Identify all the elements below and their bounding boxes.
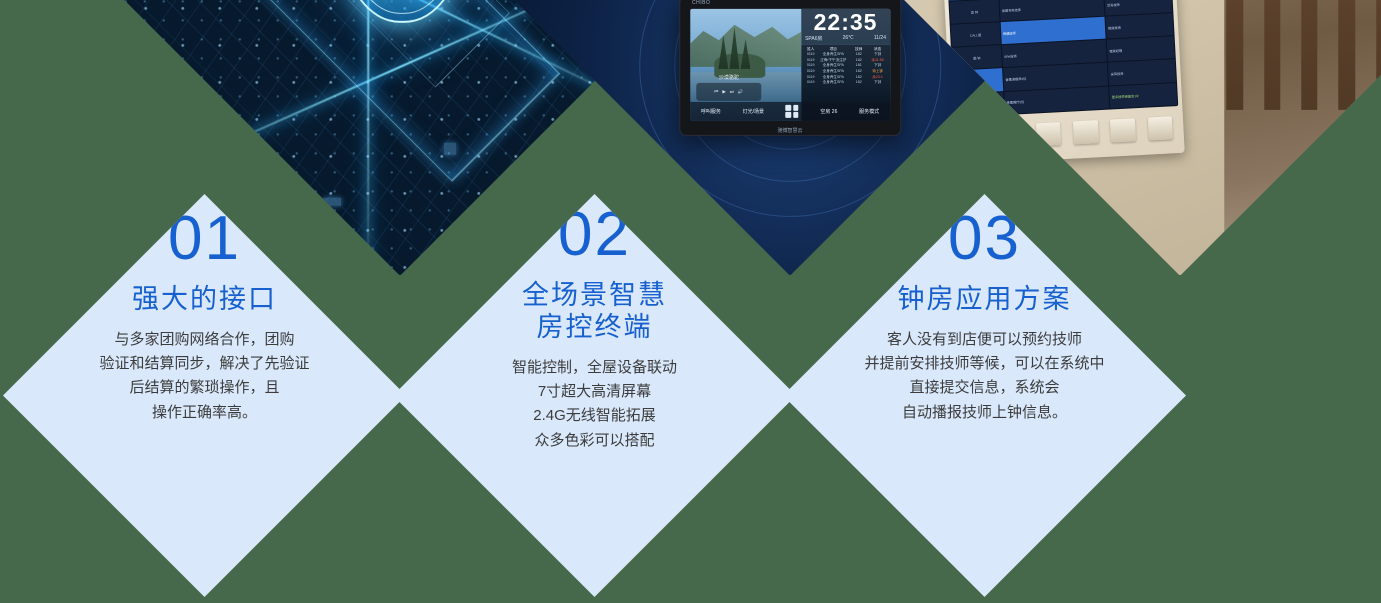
panel-key[interactable] xyxy=(1036,123,1062,147)
cell: 182 xyxy=(849,80,868,86)
tablet-brand-label: CHIBO xyxy=(692,0,710,6)
feature-card-2[interactable]: 02 全场景智慧 房控终端 智能控制，全屋设备联动 7寸超大高清屏幕 2.4G无… xyxy=(393,194,796,597)
volume-icon[interactable]: 🔊 xyxy=(738,89,744,95)
panel-left-item[interactable]: CALL服 xyxy=(951,23,1001,48)
panel-key[interactable] xyxy=(962,127,988,151)
cell: 全身养生SPA xyxy=(817,80,849,86)
room-control-tablet[interactable]: CHIBO 沙漠骆驼 ⏮ ▶ xyxy=(679,0,901,136)
feature-card-3[interactable]: 03 钟房应用方案 客人没有到店便可以预约技师 并提前安排技师等候，可以在系统中… xyxy=(783,194,1186,597)
panel-right-item[interactable]: 采耳技师 xyxy=(1108,60,1176,86)
room-label: SPA6房 xyxy=(805,35,822,42)
desc-line: 客人没有到店便可以预约技师 xyxy=(783,328,1186,352)
panel-right-item[interactable]: 楼层技师 xyxy=(1106,14,1174,40)
card-description: 与多家团购网络合作，团购 验证和结算同步，解决了先验证 后结算的繁琐操作，且 操… xyxy=(3,328,406,425)
cell-status: 下钟 xyxy=(868,80,887,86)
temperature-label: 26℃ xyxy=(843,35,854,42)
tablet-footer-brand: 驰博智慧云 xyxy=(680,127,900,134)
clock-time: 22:35 xyxy=(805,12,886,34)
desc-line: 自动播报技师上钟信息。 xyxy=(783,401,1186,425)
play-icon[interactable]: ▶ xyxy=(722,89,725,95)
desc-line: 操作正确率高。 xyxy=(3,401,406,425)
card-title: 钟房应用方案 xyxy=(783,284,1186,316)
panel-key[interactable] xyxy=(999,125,1025,149)
date-label: 11/24 xyxy=(874,35,886,42)
tablet-bottom-bar[interactable]: 呼叫服务 灯光/场景 空房 26 服务模式 xyxy=(690,102,890,121)
card-title-line: 房控终端 xyxy=(393,312,796,344)
card-description: 智能控制，全屋设备联动 7寸超大高清屏幕 2.4G无线智能拓展 众多色彩可以搭配 xyxy=(393,356,796,453)
media-track-label: 沙漠骆驼 xyxy=(719,74,739,81)
btn-lighting[interactable]: 灯光/场景 xyxy=(743,108,764,115)
desc-line: 与多家团购网络合作，团购 xyxy=(3,328,406,352)
desc-line: 并提前安排技师等候，可以在系统中 xyxy=(783,352,1186,376)
card-title: 全场景智慧 房控终端 xyxy=(393,280,796,344)
media-player-bar[interactable]: 沙漠骆驼 ⏮ ▶ ⏭ 🔊 xyxy=(697,83,761,101)
panel-key[interactable] xyxy=(1148,117,1174,141)
next-icon[interactable]: ⏭ xyxy=(730,90,734,95)
panel-screen[interactable]: 客房控制 直 钟 CALL服 圆 钟 待钟状态 直 钟 保健专家技师 xyxy=(948,0,1178,118)
apps-grid-icon[interactable] xyxy=(786,105,799,118)
desc-line: 验证和结算同步，解决了先验证 xyxy=(3,352,406,376)
desc-line: 智能控制，全屋设备联动 xyxy=(393,356,796,380)
panel-key[interactable] xyxy=(1073,121,1099,145)
panel-right-item[interactable]: 楼层经理 xyxy=(1107,37,1175,63)
prev-icon[interactable]: ⏮ xyxy=(714,90,718,95)
desc-line: 后结算的繁琐操作，且 xyxy=(3,376,406,400)
potted-plant xyxy=(1345,205,1381,265)
table-row: 0119 全身养生SPA 182 下钟 xyxy=(804,80,887,86)
panel-right-item-more[interactable]: 更多技师请留言1/2 xyxy=(1109,83,1177,109)
desc-line: 众多色彩可以搭配 xyxy=(393,429,796,453)
desc-line: 2.4G无线智能拓展 xyxy=(393,404,796,428)
card-title: 强大的接口 xyxy=(3,284,406,316)
wooden-fence xyxy=(1217,0,1381,110)
btn-vacant-rooms[interactable]: 空房 26 xyxy=(820,108,837,115)
outdoor-corridor xyxy=(1202,0,1381,276)
feature-diamonds-banner: CHIBO 沙漠骆驼 ⏮ ▶ xyxy=(0,0,1381,603)
panel-mid-column[interactable]: 保健专家技师 保健技师 SPA技师 香薰调理师2位 香薰理疗2位 xyxy=(999,0,1109,114)
card-title-line: 全场景智慧 xyxy=(393,280,796,312)
btn-service-mode[interactable]: 服务模式 xyxy=(859,108,879,115)
panel-hardware-keys[interactable] xyxy=(955,106,1181,161)
tablet-screen[interactable]: 沙漠骆驼 ⏮ ▶ ⏭ 🔊 22:35 SPA6房 xyxy=(690,9,890,121)
desc-line: 直接提交信息，系统会 xyxy=(783,376,1186,400)
btn-call-service[interactable]: 呼叫服务 xyxy=(701,108,721,115)
panel-left-item[interactable]: 直 钟 xyxy=(950,0,1000,24)
panel-right-column[interactable]: 足浴技师 楼层技师 楼层经理 采耳技师 更多技师请留言1/2 xyxy=(1105,0,1177,109)
desc-line: 7寸超大高清屏幕 xyxy=(393,380,796,404)
panel-key[interactable] xyxy=(1110,119,1136,143)
card-description: 客人没有到店便可以预约技师 并提前安排技师等候，可以在系统中 直接提交信息，系统… xyxy=(783,328,1186,425)
clock-widget: 22:35 SPA6房 26℃ 11/24 xyxy=(801,9,890,45)
cell: 0119 xyxy=(804,80,817,86)
feature-card-1[interactable]: 01 强大的接口 与多家团购网络合作，团购 验证和结算同步，解决了先验证 后结算… xyxy=(3,194,406,597)
